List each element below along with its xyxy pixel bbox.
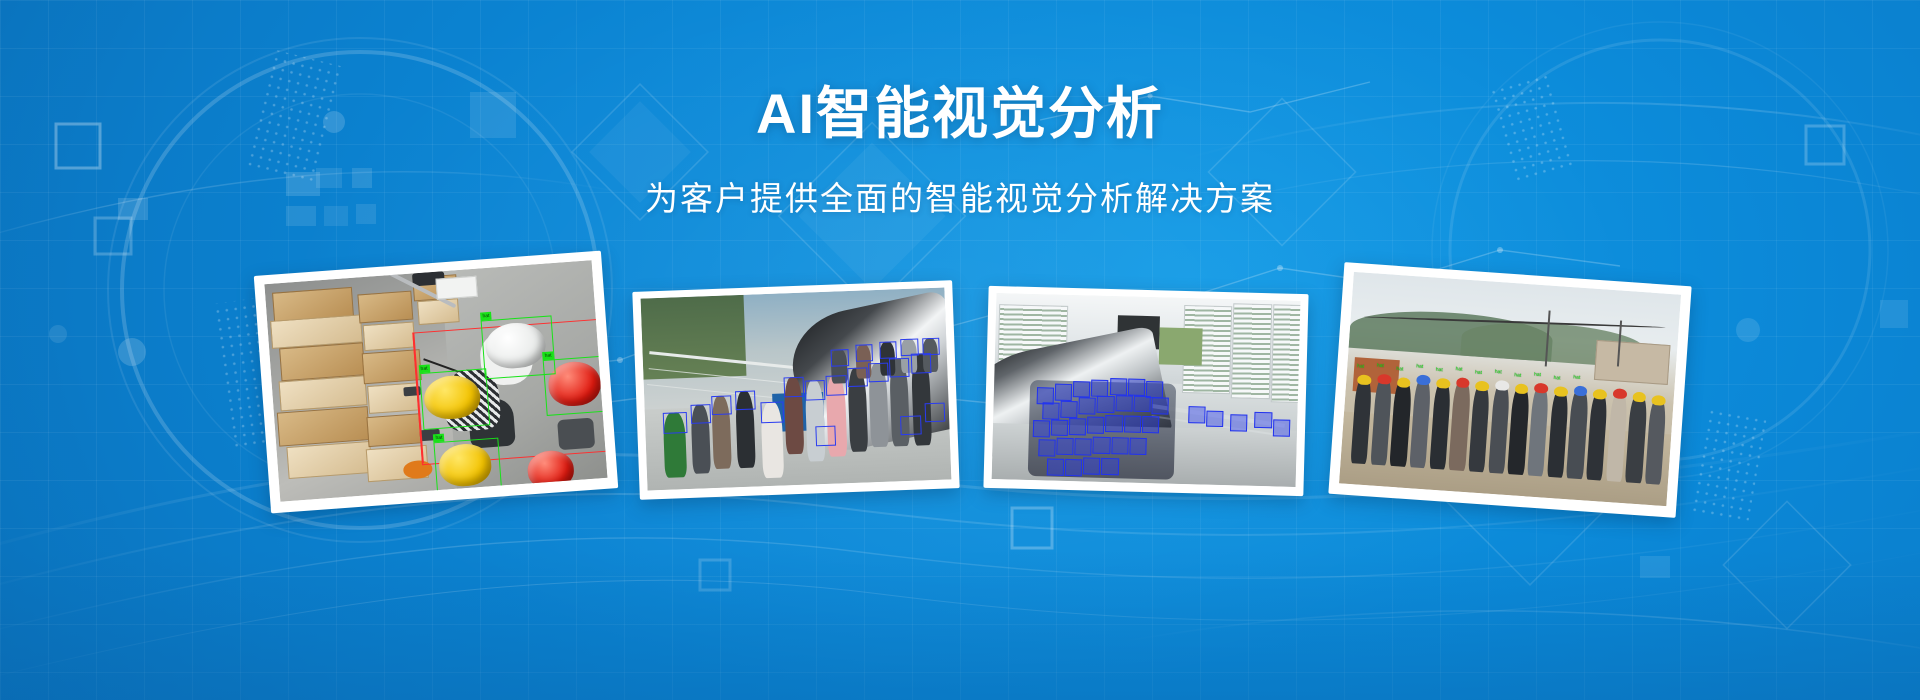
bottom-fade	[0, 550, 1920, 700]
gallery-card-warehouse-photo: hat hat hat hat	[264, 260, 607, 501]
gallery-card-warehouse[interactable]: hat hat hat hat	[254, 251, 618, 514]
detection-box-label: hat	[542, 351, 554, 360]
hero-banner: AI智能视觉分析 为客户提供全面的智能视觉分析解决方案	[0, 0, 1920, 700]
gallery-card-outdoor-group-photo: hat hat hat hat hat hat hat hat hat hat …	[1339, 272, 1681, 506]
detection-box-helmet: hat	[434, 438, 502, 497]
image-gallery: hat hat hat hat	[0, 258, 1920, 518]
detection-box-helmet: hat	[543, 356, 608, 417]
gallery-card-bridge-crowd-photo	[641, 287, 952, 490]
detection-label: hat	[1396, 366, 1403, 372]
detection-label: hat	[1357, 363, 1364, 369]
page-subtitle: 为客户提供全面的智能视觉分析解决方案	[0, 172, 1920, 220]
hero-text-block: AI智能视觉分析 为客户提供全面的智能视觉分析解决方案	[0, 82, 1920, 220]
detection-box-label: hat	[418, 365, 430, 374]
detection-label: hat	[1377, 363, 1384, 369]
gallery-card-outdoor-group[interactable]: hat hat hat hat hat hat hat hat hat hat …	[1328, 262, 1691, 518]
detection-label: hat	[1475, 370, 1482, 376]
detection-box-helmet: hat	[419, 369, 491, 430]
detection-box-label: hat	[433, 434, 445, 443]
detection-label: hat	[1495, 369, 1502, 375]
detection-box-label: hat	[480, 312, 492, 321]
gallery-card-bridge-crowd[interactable]	[632, 280, 959, 500]
detection-label: hat	[1455, 366, 1462, 372]
page-title: AI智能视觉分析	[0, 82, 1920, 146]
detection-label: hat	[1534, 372, 1541, 378]
detection-label: hat	[1436, 367, 1443, 373]
gallery-card-platform-crowd[interactable]	[983, 286, 1308, 496]
gallery-card-platform-crowd-photo	[992, 293, 1301, 487]
detection-label: hat	[1573, 374, 1580, 380]
helmet-red-2	[527, 450, 575, 490]
detection-label: hat	[1514, 372, 1521, 378]
detection-label: hat	[1416, 363, 1423, 369]
detection-label: hat	[1553, 375, 1560, 381]
